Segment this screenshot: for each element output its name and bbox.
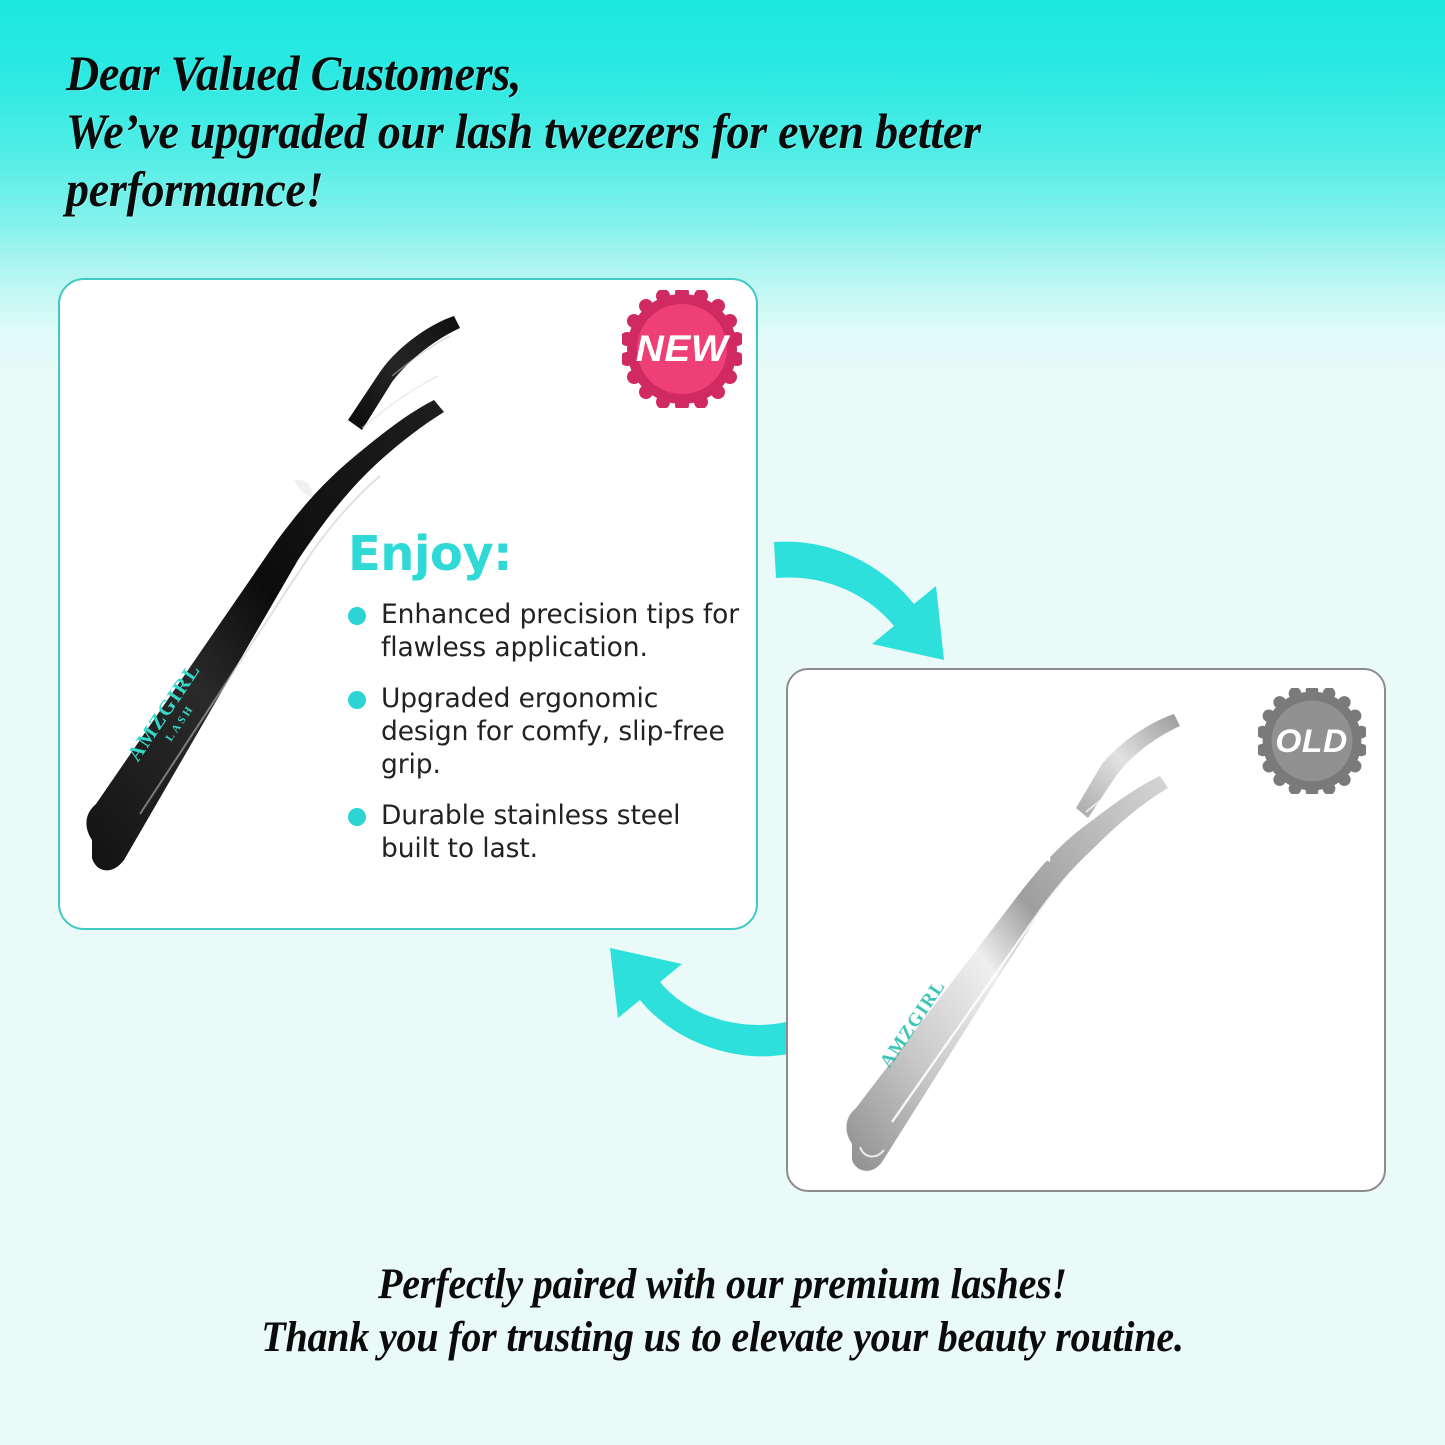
list-item: Durable stainless steel built to last. [348, 799, 743, 865]
footer-line-1: Perfectly paired with our premium lashes… [51, 1258, 1395, 1311]
benefit-text: Durable stainless steel built to last. [381, 799, 743, 865]
benefits-list: Enhanced precision tips for flawless app… [348, 598, 743, 865]
footer-message: Perfectly paired with our premium lashes… [0, 1258, 1445, 1364]
arrow-new-to-old-icon [768, 528, 968, 668]
old-badge: OLD [1258, 688, 1366, 794]
list-item: Enhanced precision tips for flawless app… [348, 598, 743, 664]
bullet-dot-icon [348, 691, 366, 709]
new-badge: NEW [622, 290, 742, 408]
list-item: Upgraded ergonomic design for comfy, sli… [348, 682, 743, 781]
header-line-1: Dear Valued Customers, [66, 44, 1290, 102]
benefit-text: Upgraded ergonomic design for comfy, sli… [381, 682, 743, 781]
bullet-dot-icon [348, 607, 366, 625]
old-badge-label: OLD [1276, 723, 1348, 760]
enjoy-section: Enjoy: Enhanced precision tips for flawl… [348, 528, 743, 883]
benefit-text: Enhanced precision tips for flawless app… [381, 598, 743, 664]
enjoy-title: Enjoy: [348, 528, 743, 580]
header-heading: Dear Valued Customers, We’ve upgraded ou… [66, 44, 1396, 218]
silver-lash-tweezers-image [830, 692, 1230, 1182]
bullet-dot-icon [348, 808, 366, 826]
new-badge-label: NEW [636, 328, 728, 370]
arrow-old-to-new-icon [596, 942, 796, 1072]
header-line-3: performance! [66, 160, 1290, 218]
header-line-2: We’ve upgraded our lash tweezers for eve… [66, 102, 1290, 160]
footer-line-2: Thank you for trusting us to elevate you… [51, 1311, 1395, 1364]
